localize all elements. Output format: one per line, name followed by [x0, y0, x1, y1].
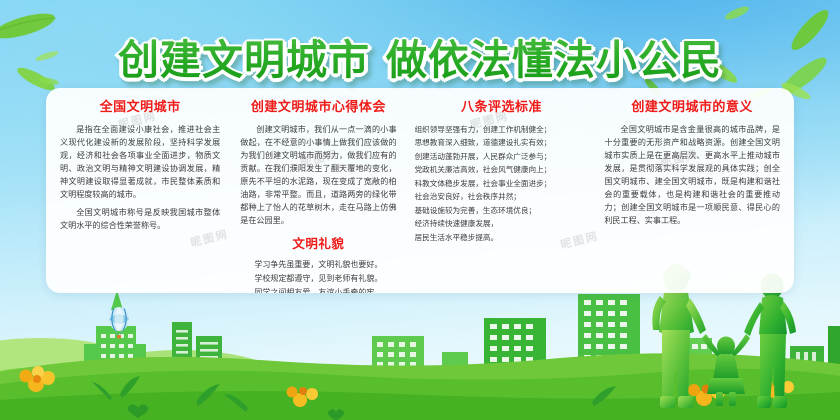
mother-figure: [744, 274, 796, 409]
section-paragraph: 全国文明城市是含金量很高的城市品牌，是十分重要的无形资产和战略资源。创建全国文明…: [604, 123, 780, 228]
list-item: 党政机关廉洁高效，社会风气健康向上；: [415, 163, 589, 177]
column-national-civilized-city: 全国文明城市 是指在全面建设小康社会，推进社会主义现代化建设新的发展阶段，坚持科…: [60, 100, 230, 293]
poster-canvas: 创建文明城市做依法懂法小公民: [0, 0, 840, 420]
hot-air-balloon-icon: [106, 306, 132, 342]
section-heading: 全国文明城市: [60, 100, 220, 116]
title-bar: 创建文明城市做依法懂法小公民: [0, 26, 840, 82]
column-experience: 创建文明城市心得体会 创建文明城市，我们从一点一滴的小事做起，在不经意的小事情上…: [230, 100, 406, 293]
title-part-2: 做依法懂法小公民: [386, 36, 722, 84]
list-item: 科教文体稳步发展，社会事业全面进步；: [415, 177, 589, 191]
criteria-list: 组织领导坚强有力，创建工作机制健全； 思想教育深入细致，道德建设扎实有效； 创建…: [415, 123, 589, 245]
list-item: 社会治安良好，社会秩序井然；: [415, 190, 589, 204]
section-heading: 八条评选标准: [415, 100, 589, 116]
list-item: 居民生活水平稳步提高。: [415, 231, 589, 245]
title-part-1: 创建文明城市: [118, 36, 370, 84]
page-title: 创建文明城市做依法懂法小公民: [118, 26, 722, 86]
subsection-heading: 文明礼貌: [240, 236, 396, 251]
list-item: 学校规定都遵守，见到老师有礼貌。: [240, 272, 396, 286]
list-item: 基础设施较为完善，生态环境优良；: [415, 204, 589, 218]
child-figure: [702, 334, 750, 406]
list-item: 组织领导坚强有力，创建工作机制健全；: [415, 123, 589, 137]
list-item: 学习争先虽重要，文明礼貌也要好。: [240, 258, 396, 272]
leaf-icon: [722, 4, 752, 22]
column-eight-criteria: 八条评选标准 组织领导坚强有力，创建工作机制健全； 思想教育深入细致，道德建设扎…: [407, 100, 597, 293]
section-paragraph: 全国文明城市称号是反映我国城市整体文明水平的综合性荣誉称号。: [60, 206, 220, 232]
section-paragraph: 创建文明城市，我们从一点一滴的小事做起，在不经意的小事情上做我们应该做的为我们创…: [240, 123, 396, 228]
content-columns: 全国文明城市 是指在全面建设小康社会，推进社会主义现代化建设新的发展阶段，坚持科…: [46, 88, 794, 293]
list-item: 同学之间相友爱，友谊小手牵的牢。: [240, 286, 396, 293]
list-item: 创建活动蓬勃开展，人民群众广泛参与；: [415, 150, 589, 164]
section-paragraph: 是指在全面建设小康社会，推进社会主义现代化建设新的发展阶段，坚持科学发展观，经济…: [60, 123, 220, 202]
list-item: 经济持续快速健康发展，: [415, 217, 589, 231]
civility-rhyme-list: 学习争先虽重要，文明礼貌也要好。 学校规定都遵守，见到老师有礼貌。 同学之间相友…: [240, 258, 396, 293]
column-significance: 创建文明城市的意义 全国文明城市是含金量很高的城市品牌，是十分重要的无形资产和战…: [596, 100, 780, 293]
section-heading: 创建文明城市心得体会: [240, 100, 396, 116]
section-heading: 创建文明城市的意义: [604, 100, 780, 116]
content-card: 全国文明城市 是指在全面建设小康社会，推进社会主义现代化建设新的发展阶段，坚持科…: [46, 88, 794, 293]
list-item: 思想教育深入细致，道德建设扎实有效；: [415, 136, 589, 150]
